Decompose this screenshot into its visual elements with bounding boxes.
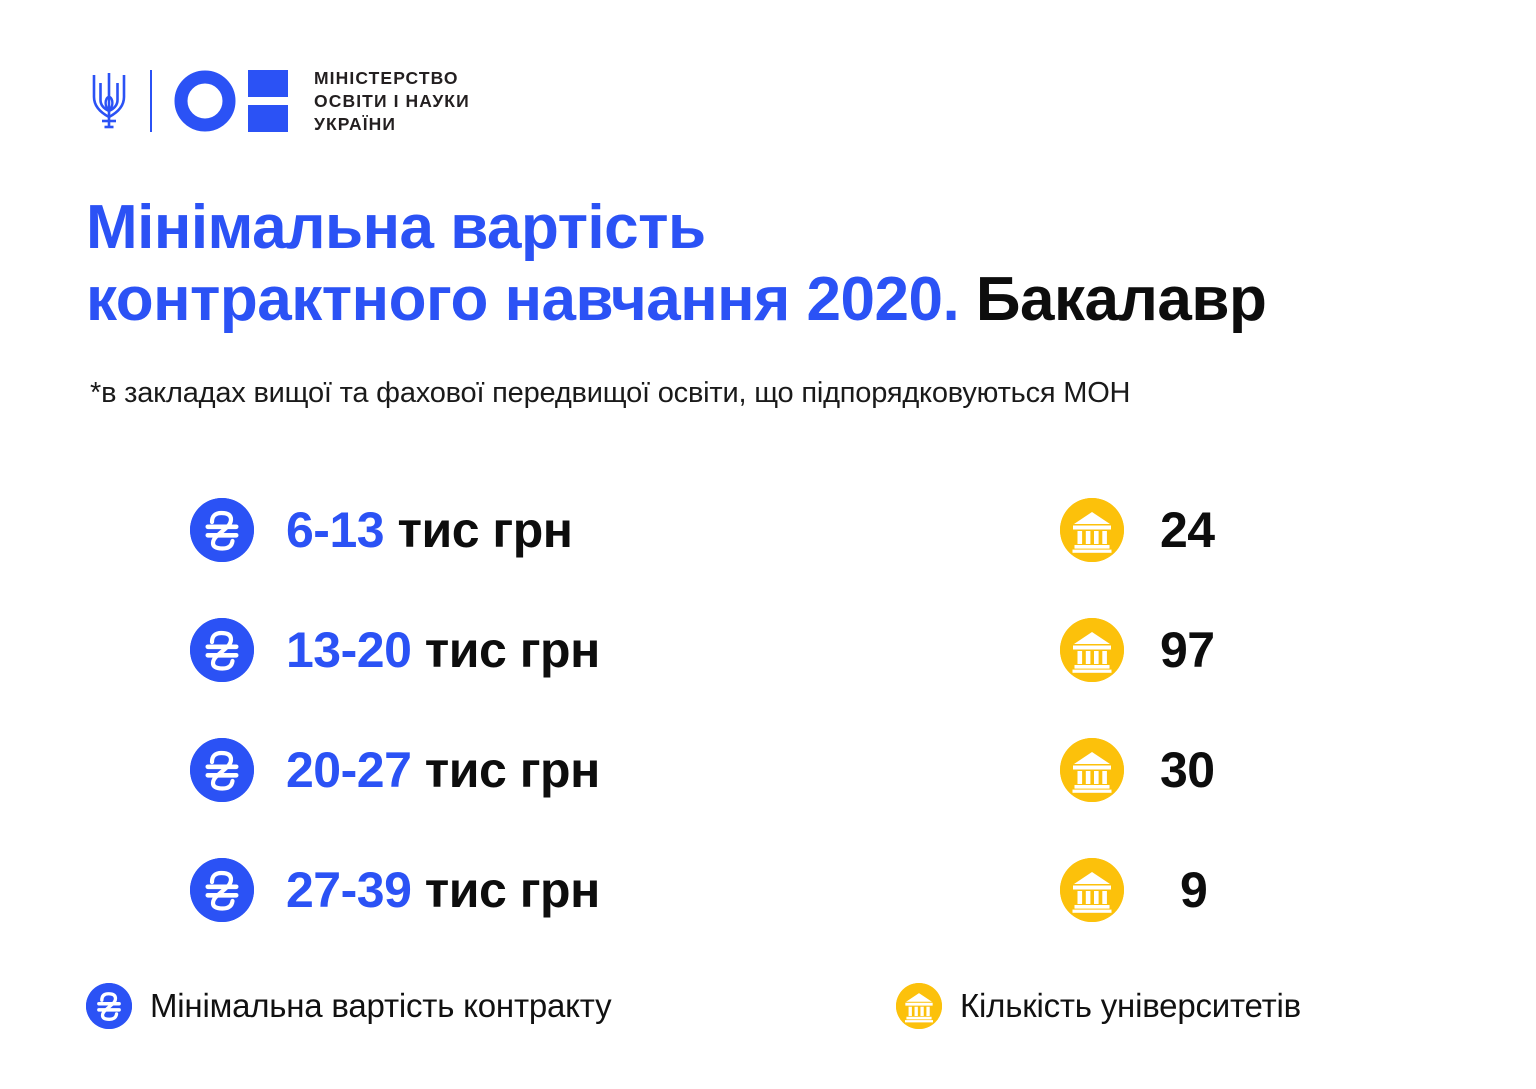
university-building-icon bbox=[1060, 858, 1124, 922]
logo-text-line3: УКРАЇНИ bbox=[314, 113, 470, 136]
logo-text-line1: МІНІСТЕРСТВО bbox=[314, 67, 470, 90]
hryvnia-coin-icon bbox=[190, 858, 254, 922]
cost-text: 13-20 тис грн bbox=[286, 625, 600, 675]
cost-range: 6-13 bbox=[286, 502, 384, 558]
university-count: 97 bbox=[1160, 625, 1250, 675]
cost-unit: тис грн bbox=[425, 862, 600, 918]
subtitle-note: *в закладах вищої та фахової передвищої … bbox=[90, 377, 1130, 410]
logo-text: МІНІСТЕРСТВО ОСВІТИ І НАУКИ УКРАЇНИ bbox=[314, 68, 470, 134]
legend-label-cost: Мінімальна вартість контракту bbox=[150, 987, 611, 1025]
cost-text: 27-39 тис грн bbox=[286, 865, 600, 915]
headline-line-1-text: Мінімальна вартість bbox=[86, 193, 706, 262]
page-title: Мінімальна вартість контрактного навчанн… bbox=[86, 192, 1466, 336]
logo-text-line2: ОСВІТИ І НАУКИ bbox=[314, 90, 470, 113]
table-row: 27-39 тис грн 9 bbox=[0, 830, 1536, 950]
cost-range: 27-39 bbox=[286, 862, 411, 918]
cost-range: 20-27 bbox=[286, 742, 411, 798]
university-count: 30 bbox=[1160, 745, 1250, 795]
mon-o-mark-icon bbox=[174, 70, 236, 132]
legend-label-count: Кількість університетів bbox=[960, 987, 1301, 1025]
hryvnia-coin-icon bbox=[86, 983, 132, 1029]
count-cell: 97 bbox=[1060, 590, 1250, 710]
hryvnia-coin-icon bbox=[190, 618, 254, 682]
university-building-icon bbox=[1060, 498, 1124, 562]
cost-unit: тис грн bbox=[425, 622, 600, 678]
headline-line-2: контрактного навчання 2020. Бакалавр bbox=[86, 264, 1466, 336]
data-rows: 6-13 тис грн 24 bbox=[0, 470, 1536, 950]
mon-squares-icon bbox=[248, 70, 288, 132]
cost-cell: 6-13 тис грн bbox=[190, 470, 572, 590]
table-row: 13-20 тис грн 97 bbox=[0, 590, 1536, 710]
cost-unit: тис грн bbox=[397, 502, 572, 558]
legend-item-cost: Мінімальна вартість контракту bbox=[86, 980, 611, 1032]
count-cell: 9 bbox=[1060, 830, 1270, 950]
hryvnia-coin-icon bbox=[190, 498, 254, 562]
ukraine-trident-icon bbox=[88, 67, 130, 135]
cost-cell: 20-27 тис грн bbox=[190, 710, 600, 830]
headline-line-2-blue: контрактного навчання 2020. bbox=[86, 265, 959, 334]
headline-line-1: Мінімальна вартість bbox=[86, 192, 1466, 264]
count-cell: 24 bbox=[1060, 470, 1250, 590]
cost-text: 20-27 тис грн bbox=[286, 745, 600, 795]
university-building-icon bbox=[1060, 618, 1124, 682]
logo-divider bbox=[150, 70, 152, 132]
university-building-icon bbox=[1060, 738, 1124, 802]
mon-logo: МІНІСТЕРСТВО ОСВІТИ І НАУКИ УКРАЇНИ bbox=[88, 58, 470, 144]
cost-cell: 13-20 тис грн bbox=[190, 590, 600, 710]
university-count: 24 bbox=[1160, 505, 1250, 555]
legend-item-count: Кількість університетів bbox=[896, 980, 1301, 1032]
legend: Мінімальна вартість контракту Кількість … bbox=[0, 980, 1536, 1040]
university-building-icon bbox=[896, 983, 942, 1029]
hryvnia-coin-icon bbox=[190, 738, 254, 802]
cost-text: 6-13 тис грн bbox=[286, 505, 572, 555]
headline-line-2-black: Бакалавр bbox=[976, 265, 1266, 334]
cost-range: 13-20 bbox=[286, 622, 411, 678]
table-row: 20-27 тис грн 30 bbox=[0, 710, 1536, 830]
cost-unit: тис грн bbox=[425, 742, 600, 798]
university-count: 9 bbox=[1180, 865, 1270, 915]
cost-cell: 27-39 тис грн bbox=[190, 830, 600, 950]
table-row: 6-13 тис грн 24 bbox=[0, 470, 1536, 590]
count-cell: 30 bbox=[1060, 710, 1250, 830]
